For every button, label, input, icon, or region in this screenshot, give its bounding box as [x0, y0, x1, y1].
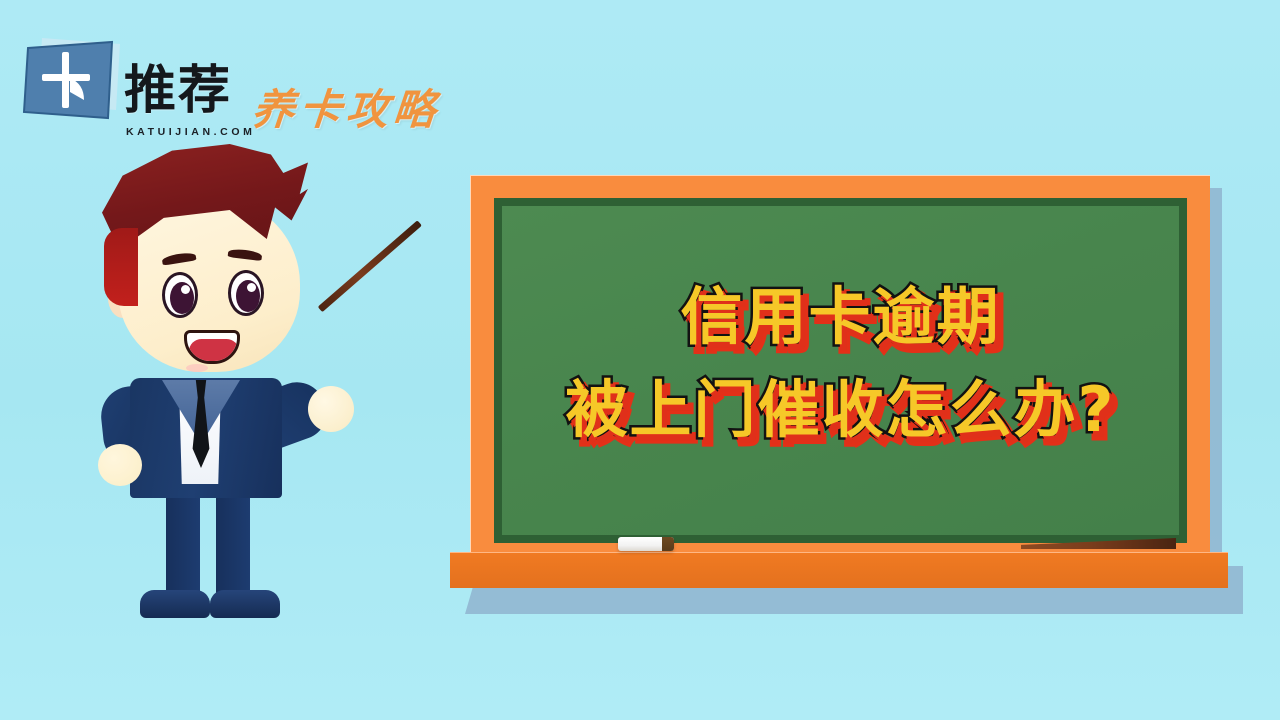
character-eye-glint-right: [247, 283, 256, 292]
katuijian-logo-icon: [20, 34, 124, 132]
character-cheek-blush: [186, 364, 208, 372]
brand-title: 推荐: [124, 66, 232, 118]
pointer-stick-icon: [318, 220, 422, 312]
character-pupil-right: [236, 280, 260, 312]
blackboard-title-line-2: 被上门催收怎么办?: [502, 377, 1179, 444]
blackboard-title: 信用卡逾期 被上门催收怎么办?: [502, 284, 1179, 444]
character-pupil-left: [170, 282, 194, 314]
blackboard-title-line-1: 信用卡逾期: [502, 284, 1179, 351]
character-eye-right: [228, 270, 264, 316]
blackboard-ledge: [450, 552, 1228, 588]
character-eye-glint-left: [181, 285, 190, 294]
character-mouth: [184, 330, 240, 364]
blackboard-inner-border: 信用卡逾期 被上门催收怎么办? 信用卡逾期 被上门催收怎么办?: [494, 198, 1187, 543]
brand-domain: KATUIJIAN.COM: [126, 126, 255, 138]
blackboard-frame: 信用卡逾期 被上门催收怎么办? 信用卡逾期 被上门催收怎么办?: [470, 175, 1210, 565]
character-shoe-left: [140, 590, 210, 618]
brand-block: 推荐 KATUIJIAN.COM 养卡攻略: [14, 28, 454, 138]
chalk-tip: [662, 537, 674, 551]
character-hand-left: [98, 444, 142, 486]
character-tongue: [189, 339, 239, 361]
character-hair-sideburn: [104, 228, 138, 306]
cartoon-teacher-character: [58, 138, 388, 648]
thumbnail-stage: 推荐 KATUIJIAN.COM 养卡攻略 信用卡逾期 被上门催收怎么办? 信用…: [0, 0, 1280, 720]
character-eye-left: [162, 272, 198, 318]
blackboard-surface: 信用卡逾期 被上门催收怎么办? 信用卡逾期 被上门催收怎么办?: [502, 206, 1179, 535]
character-hand-right: [308, 386, 354, 432]
brand-slogan: 养卡攻略: [250, 90, 442, 132]
character-shoe-right: [210, 590, 280, 618]
chalk-icon: [618, 537, 674, 551]
